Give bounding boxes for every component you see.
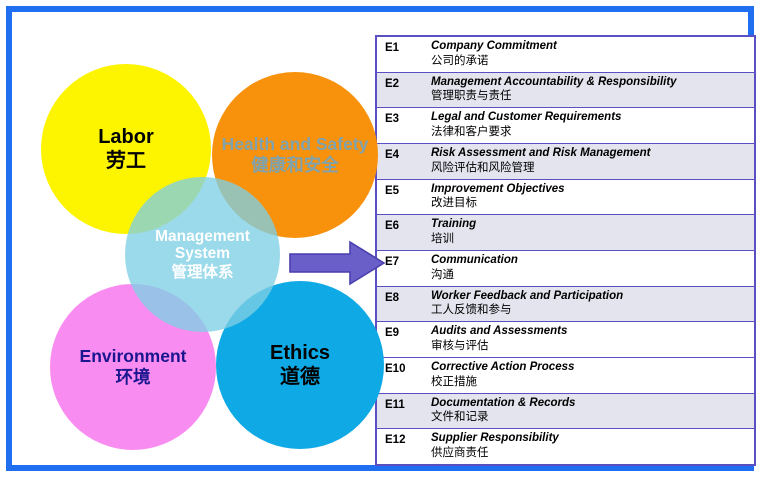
- row-title-en: Legal and Customer Requirements: [431, 110, 748, 125]
- row-content: Improvement Objectives 改进目标: [431, 182, 754, 212]
- row-title-en: Risk Assessment and Risk Management: [431, 146, 748, 161]
- row-code: E1: [377, 39, 431, 57]
- table-row[interactable]: E1 Company Commitment 公司的承诺: [377, 37, 754, 73]
- row-title-zh: 沟通: [431, 268, 748, 283]
- row-title-en: Worker Feedback and Participation: [431, 289, 748, 304]
- row-title-zh: 公司的承诺: [431, 54, 748, 69]
- row-title-zh: 文件和记录: [431, 410, 748, 425]
- row-title-zh: 风险评估和风险管理: [431, 161, 748, 176]
- venn-circle-management-system-label-zh: 管理体系: [171, 264, 233, 281]
- table-row[interactable]: E10 Corrective Action Process 校正措施: [377, 358, 754, 394]
- row-title-en: Management Accountability & Responsibili…: [431, 75, 748, 90]
- row-code: E5: [377, 182, 431, 200]
- table-row[interactable]: E11 Documentation & Records 文件和记录: [377, 394, 754, 430]
- row-code: E12: [377, 431, 431, 449]
- row-title-zh: 校正措施: [431, 375, 748, 390]
- table-row[interactable]: E9 Audits and Assessments 审核与评估: [377, 322, 754, 358]
- row-code: E2: [377, 75, 431, 93]
- table-row[interactable]: E2 Management Accountability & Responsib…: [377, 73, 754, 109]
- table-row[interactable]: E6 Training 培训: [377, 215, 754, 251]
- venn-circle-health-and-safety-label-zh: 健康和安全: [251, 156, 339, 176]
- row-title-zh: 改进目标: [431, 196, 748, 211]
- venn-circle-ethics-label-zh: 道德: [280, 366, 320, 388]
- table-row[interactable]: E7 Communication 沟通: [377, 251, 754, 287]
- row-content: Communication 沟通: [431, 253, 754, 283]
- row-content: Company Commitment 公司的承诺: [431, 39, 754, 69]
- row-content: Audits and Assessments 审核与评估: [431, 324, 754, 354]
- table-row[interactable]: E5 Improvement Objectives 改进目标: [377, 180, 754, 216]
- row-title-zh: 审核与评估: [431, 339, 748, 354]
- venn-circle-environment-label-en: Environment: [80, 347, 187, 367]
- venn-circle-management-system-label-en-line2: System: [175, 245, 230, 262]
- venn-circle-environment-label-zh: 环境: [116, 368, 151, 388]
- row-title-en: Improvement Objectives: [431, 182, 748, 197]
- row-title-en: Corrective Action Process: [431, 360, 748, 375]
- slide-canvas: Labor 劳工 Health and Safety 健康和安全 Environ…: [0, 0, 760, 477]
- row-title-zh: 工人反馈和参与: [431, 303, 748, 318]
- row-title-zh: 培训: [431, 232, 748, 247]
- venn-circle-management-system[interactable]: Management System 管理体系: [125, 177, 280, 332]
- row-content: Worker Feedback and Participation 工人反馈和参…: [431, 289, 754, 319]
- row-code: E10: [377, 360, 431, 378]
- row-title-en: Supplier Responsibility: [431, 431, 748, 446]
- row-code: E3: [377, 110, 431, 128]
- row-title-en: Audits and Assessments: [431, 324, 748, 339]
- table-row[interactable]: E4 Risk Assessment and Risk Management 风…: [377, 144, 754, 180]
- row-content: Documentation & Records 文件和记录: [431, 396, 754, 426]
- table-row[interactable]: E8 Worker Feedback and Participation 工人反…: [377, 287, 754, 323]
- element-table: E1 Company Commitment 公司的承诺 E2 Managemen…: [375, 35, 756, 466]
- row-code: E11: [377, 396, 431, 414]
- row-title-en: Training: [431, 217, 748, 232]
- venn-circle-health-and-safety-label-en: Health and Safety: [222, 135, 369, 155]
- blue-border-frame: Labor 劳工 Health and Safety 健康和安全 Environ…: [6, 6, 754, 471]
- row-code: E9: [377, 324, 431, 342]
- table-row[interactable]: E3 Legal and Customer Requirements 法律和客户…: [377, 108, 754, 144]
- row-title-en: Communication: [431, 253, 748, 268]
- row-code: E4: [377, 146, 431, 164]
- venn-circle-ethics-label-en: Ethics: [270, 342, 330, 364]
- right-arrow-icon: [288, 239, 386, 287]
- row-content: Legal and Customer Requirements 法律和客户要求: [431, 110, 754, 140]
- row-content: Supplier Responsibility 供应商责任: [431, 431, 754, 461]
- row-content: Training 培训: [431, 217, 754, 247]
- row-content: Corrective Action Process 校正措施: [431, 360, 754, 390]
- venn-circle-labor-label-en: Labor: [98, 126, 154, 148]
- row-title-zh: 法律和客户要求: [431, 125, 748, 140]
- row-code: E8: [377, 289, 431, 307]
- venn-circle-labor-label-zh: 劳工: [106, 150, 146, 172]
- venn-circle-management-system-label-en-line1: Management: [155, 228, 250, 245]
- row-content: Management Accountability & Responsibili…: [431, 75, 754, 105]
- row-content: Risk Assessment and Risk Management 风险评估…: [431, 146, 754, 176]
- row-title-zh: 管理职责与责任: [431, 89, 748, 104]
- row-title-zh: 供应商责任: [431, 446, 748, 461]
- venn-diagram: Labor 劳工 Health and Safety 健康和安全 Environ…: [26, 26, 374, 463]
- row-code: E6: [377, 217, 431, 235]
- row-title-en: Documentation & Records: [431, 396, 748, 411]
- row-title-en: Company Commitment: [431, 39, 748, 54]
- table-row[interactable]: E12 Supplier Responsibility 供应商责任: [377, 429, 754, 464]
